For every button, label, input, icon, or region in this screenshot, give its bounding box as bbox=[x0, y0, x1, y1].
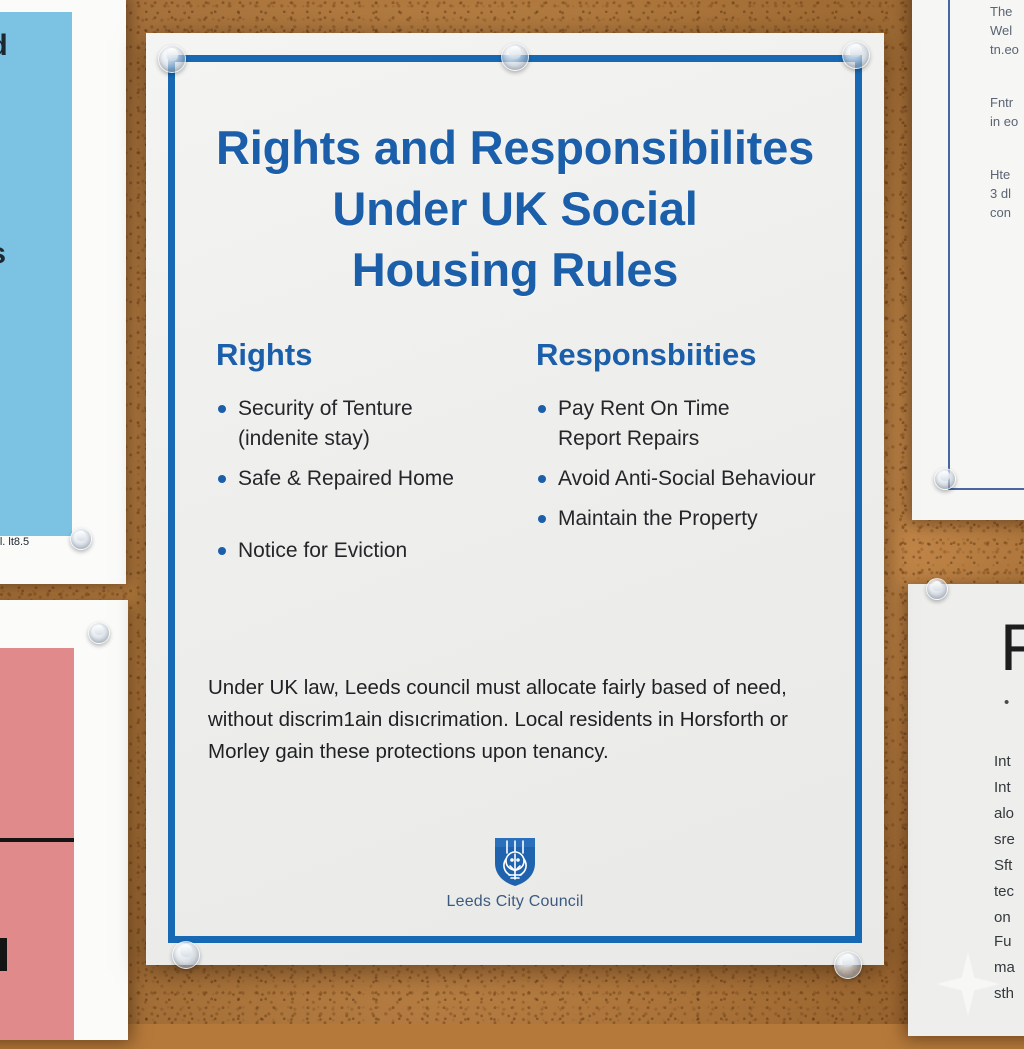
side-poster-right-bottom-line-10: sth bbox=[994, 981, 1024, 1007]
side-poster-right-bottom-line-6: tec bbox=[994, 879, 1024, 905]
column-heading-rights: Rights bbox=[216, 338, 528, 372]
list-item: Safe & Repaired Home bbox=[208, 464, 528, 494]
side-poster-left-bottom[interactable]: n n trreds s bbox=[0, 600, 128, 1040]
side-poster-right-bottom-line-2: Int bbox=[994, 775, 1024, 801]
page-title-line-3: Housing Rules bbox=[352, 243, 678, 296]
main-poster[interactable]: Rights and Responsibilites Under UK Soci… bbox=[146, 33, 884, 965]
list-item: Avoid Anti-Social Behaviour bbox=[528, 464, 888, 494]
pushpin[interactable] bbox=[70, 528, 92, 550]
pushpin-top-center[interactable] bbox=[501, 43, 529, 71]
pushpin-top-left[interactable] bbox=[158, 45, 186, 73]
side-poster-right-bottom-line-8: Fu bbox=[994, 929, 1024, 955]
side-poster-right-top-text: The Wel tn.eo Fntr in eo Hte 3 dl con bbox=[990, 2, 1024, 222]
side-poster-right-bottom-line-1: Int bbox=[994, 749, 1024, 775]
list-item-continuation: Report Repairs bbox=[528, 424, 888, 454]
side-poster-right-bottom-line-3: alo bbox=[994, 801, 1024, 827]
side-poster-right-bottom-line-9: ma bbox=[994, 955, 1024, 981]
side-poster-right-bottom-line-5: Sft bbox=[994, 853, 1024, 879]
list-item-text: (indenite stay) bbox=[238, 427, 370, 450]
side-poster-right-bottom-text-2: Fu ma sth bbox=[994, 929, 1024, 1007]
sparkle-icon bbox=[936, 952, 1000, 1016]
side-poster-right-top-line-8: con bbox=[990, 203, 1024, 222]
rights-list: Security of Tenture (indenite stay) Safe… bbox=[208, 394, 528, 566]
page-title-line-1: Rights and Responsibilites bbox=[216, 121, 814, 174]
leeds-owl-shield-crest-icon bbox=[493, 835, 537, 887]
side-poster-left-top-panel: anid ate est l ines orn 5I3a.9 aoy l?.1 … bbox=[0, 12, 72, 536]
column-heading-responsibilities: Responsbiities bbox=[536, 338, 888, 372]
list-item-continuation: (indenite stay) bbox=[208, 424, 528, 454]
side-poster-left-bottom-line-1: n bbox=[0, 690, 74, 762]
column-responsibilities: Responsbiities Pay Rent On Time Report R… bbox=[528, 338, 888, 576]
list-item-text: Maintain the Property bbox=[558, 507, 758, 530]
pushpin[interactable] bbox=[88, 622, 110, 644]
side-poster-right-top-line-4: Fntr bbox=[990, 93, 1024, 112]
list-item-text: Notice for Eviction bbox=[238, 539, 407, 562]
side-poster-left-top-line-6: orn bbox=[0, 274, 62, 314]
side-poster-left-top-small-2: aoy l?.1 eol. lt8.5 bbox=[0, 534, 62, 550]
side-poster-right-bottom-text: Int Int alo sre Sft tec on bbox=[994, 749, 1024, 931]
side-poster-left-top-line-5: ines bbox=[0, 234, 62, 274]
side-poster-right-bottom-sub: • bbox=[1004, 694, 1009, 711]
list-item-text: Pay Rent On Time bbox=[558, 397, 730, 420]
pushpin-bottom-right[interactable] bbox=[834, 951, 862, 979]
list-item-text: Report Repairs bbox=[558, 427, 699, 450]
list-item-text: Safe & Repaired Home bbox=[238, 467, 454, 490]
responsibilities-list: Pay Rent On Time Report Repairs Avoid An… bbox=[528, 394, 888, 534]
page-title-line-2: Under UK Social bbox=[332, 182, 697, 235]
side-poster-right-top-line-2: Wel bbox=[990, 21, 1024, 40]
pushpin-bottom-left[interactable] bbox=[172, 941, 200, 969]
list-item-text: Security of Tenture bbox=[238, 397, 413, 420]
side-poster-left-top-line-4: l bbox=[0, 194, 62, 234]
poster-footer: Leeds City Council bbox=[208, 835, 822, 911]
list-item: Notice for Eviction bbox=[208, 536, 528, 566]
pushpin[interactable] bbox=[926, 578, 948, 600]
side-poster-right-top-line-3: tn.eo bbox=[990, 40, 1024, 59]
pushpin[interactable] bbox=[934, 468, 956, 490]
side-poster-left-bottom-panel: n n trreds s bbox=[0, 648, 74, 1040]
side-poster-left-top-line-1: anid bbox=[0, 26, 62, 66]
body-paragraph: Under UK law, Leeds council must allocat… bbox=[208, 672, 822, 768]
side-poster-right-top-line-5: in eo bbox=[990, 112, 1024, 131]
side-poster-right-bottom[interactable]: F • Int Int alo sre Sft tec on Fu ma sth bbox=[908, 584, 1024, 1036]
list-item: Maintain the Property bbox=[528, 504, 888, 534]
side-poster-left-top[interactable]: anid ate est l ines orn 5I3a.9 aoy l?.1 … bbox=[0, 0, 126, 584]
side-poster-right-top-line-1: The bbox=[990, 2, 1024, 21]
side-poster-left-top-line-3: est bbox=[0, 154, 62, 194]
list-item: Pay Rent On Time bbox=[528, 394, 888, 424]
side-poster-right-top[interactable]: The Wel tn.eo Fntr in eo Hte 3 dl con bbox=[912, 0, 1024, 520]
list-item-text: Avoid Anti-Social Behaviour bbox=[558, 467, 816, 490]
side-poster-left-bottom-tag: trreds bbox=[0, 938, 7, 971]
side-poster-right-bottom-heading: F bbox=[1000, 614, 1024, 680]
poster-content: Rights and Responsibilites Under UK Soci… bbox=[208, 117, 822, 915]
council-name: Leeds City Council bbox=[208, 893, 822, 911]
side-poster-left-bottom-line-2: n bbox=[0, 762, 74, 834]
column-rights: Rights Security of Tenture (indenite sta… bbox=[208, 338, 528, 576]
side-poster-right-top-line-7: 3 dl bbox=[990, 184, 1024, 203]
rights-responsibilities-columns: Rights Security of Tenture (indenite sta… bbox=[208, 338, 822, 576]
side-poster-right-bottom-line-7: on bbox=[994, 905, 1024, 931]
side-poster-left-bottom-small: s bbox=[0, 1035, 74, 1049]
pushpin-top-right[interactable] bbox=[842, 41, 870, 69]
list-item: Security of Tenture bbox=[208, 394, 528, 424]
side-poster-right-top-line-6: Hte bbox=[990, 165, 1024, 184]
side-poster-right-bottom-line-4: sre bbox=[994, 827, 1024, 853]
page-title: Rights and Responsibilites Under UK Soci… bbox=[208, 117, 822, 300]
side-poster-left-top-small-1: 5I3a.9 bbox=[0, 474, 62, 490]
side-poster-left-top-line-2: ate bbox=[0, 66, 62, 106]
